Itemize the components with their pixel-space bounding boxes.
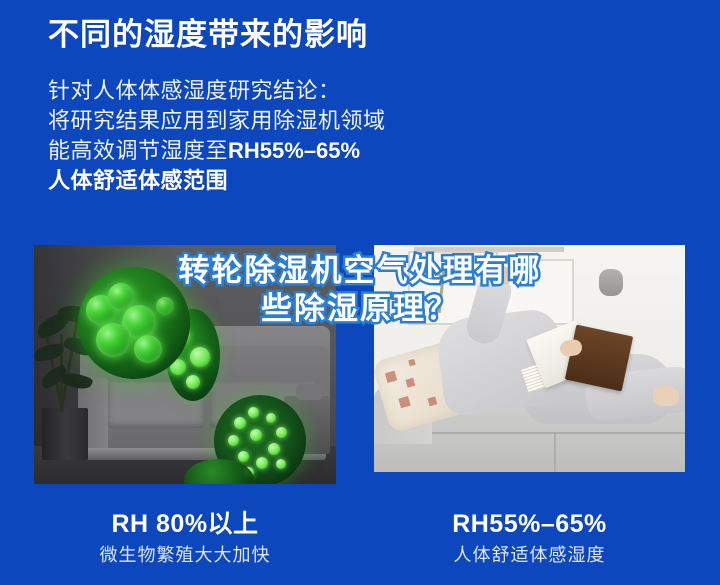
body-copy-line-1: 针对人体体感湿度研究结论：	[48, 76, 518, 106]
page-title: 不同的湿度带来的影响	[48, 16, 368, 53]
humidity-range-value: RH55%–65%	[228, 138, 360, 163]
right-person-foot	[653, 386, 679, 406]
right-sofa-seam-v	[554, 434, 556, 472]
body-copy-line-3-prefix: 能高效调节湿度至	[48, 138, 228, 163]
caption-left: RH 80%以上 微生物繁殖大大加快	[34, 508, 336, 568]
caption-left-main: RH 80%以上	[34, 508, 336, 540]
caption-right-sub: 人体舒适体感湿度	[374, 542, 685, 568]
caption-left-sub: 微生物繁殖大大加快	[34, 542, 336, 568]
caption-right: RH55%–65% 人体舒适体感湿度	[374, 508, 685, 568]
poster-root: 不同的湿度带来的影响 针对人体体感湿度研究结论： 将研究结果应用到家用除湿机领域…	[0, 0, 720, 585]
left-plant-pot	[42, 408, 88, 460]
body-copy: 针对人体体感湿度研究结论： 将研究结果应用到家用除湿机领域 能高效调节湿度至RH…	[48, 76, 518, 196]
overlay-title-line-1: 转轮除湿机空气处理有哪	[0, 252, 720, 290]
body-copy-line-2: 将研究结果应用到家用除湿机领域	[48, 106, 518, 136]
left-side-object	[296, 384, 322, 400]
caption-right-main: RH55%–65%	[374, 508, 685, 540]
overlay-title-line-2: 些除湿原理？	[0, 290, 720, 328]
overlay-title: 转轮除湿机空气处理有哪 些除湿原理？	[0, 252, 720, 328]
right-book-cover	[565, 325, 633, 392]
body-copy-line-4: 人体舒适体感范围	[48, 166, 518, 196]
body-copy-line-3: 能高效调节湿度至RH55%–65%	[48, 136, 518, 166]
